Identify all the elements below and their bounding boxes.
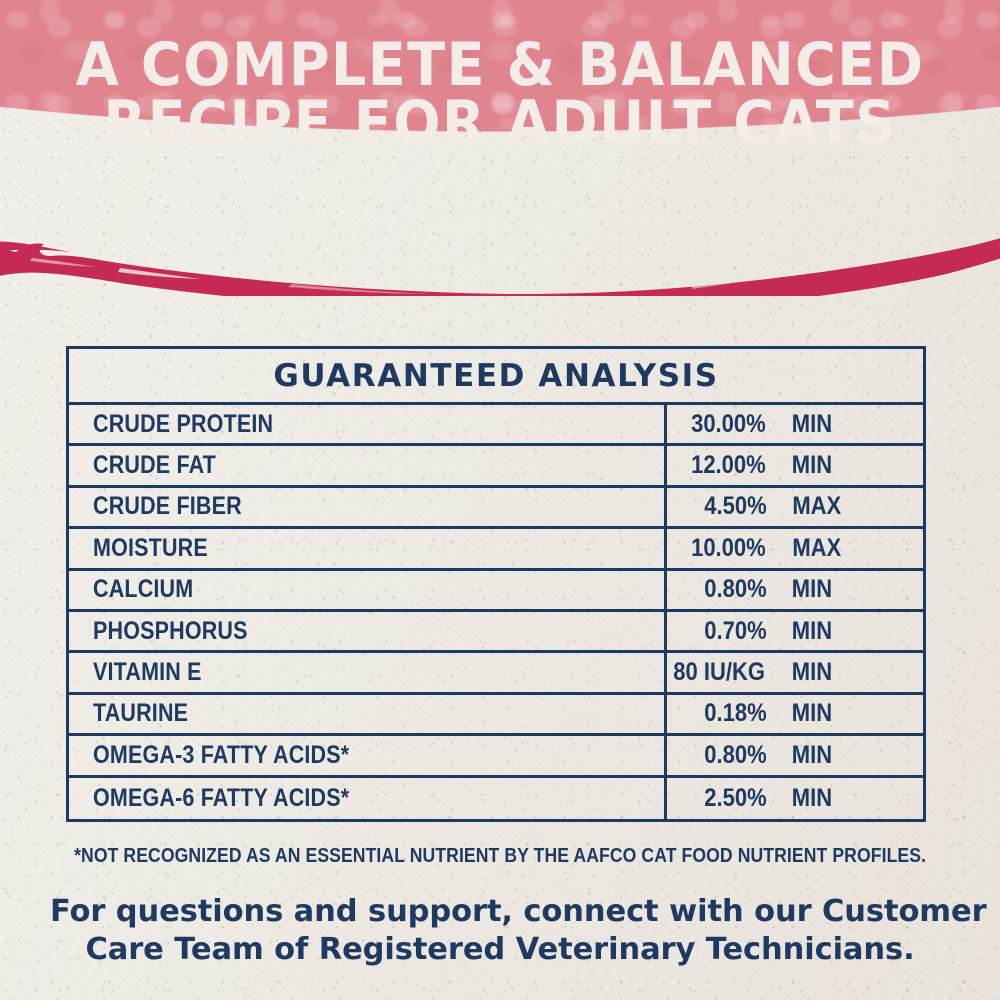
nutrient-name-cell: CRUDE FAT — [69, 446, 667, 484]
nutrient-amount-cell: 2.50% MIN — [667, 778, 923, 819]
table-row: CRUDE PROTEIN 30.00% MIN — [69, 405, 923, 446]
header-banner: A COMPLETE & BALANCED RECIPE FOR ADULT C… — [0, 0, 1000, 262]
nutrient-value: 0.80% — [667, 741, 777, 770]
nutrient-value: 10.00% — [667, 534, 777, 563]
nutrient-name-cell: TAURINE — [69, 695, 667, 733]
table-row: TAURINE 0.18% MIN — [69, 695, 923, 736]
nutrient-name-cell: CRUDE FIBER — [69, 488, 667, 526]
nutrient-qualifier: MIN — [777, 784, 835, 813]
table-title: GUARANTEED ANALYSIS — [69, 349, 923, 405]
nutrient-qualifier: MIN — [777, 658, 835, 687]
support-note-line-2: Care Team of Registered Veterinary Techn… — [50, 931, 950, 969]
nutrient-amount-cell: 12.00% MIN — [667, 446, 923, 484]
support-note-line-1: For questions and support, connect with … — [50, 893, 950, 931]
customer-support-note: For questions and support, connect with … — [50, 893, 950, 969]
nutrient-amount-cell: 10.00% MAX — [667, 529, 923, 567]
nutrient-value: 0.80% — [667, 575, 777, 604]
nutrient-value: 30.00% — [667, 410, 777, 439]
nutrient-amount-cell: 0.18% MIN — [667, 695, 923, 733]
table-row: VITAMIN E 80 IU/KG MIN — [69, 653, 923, 694]
table-row: PHOSPHORUS 0.70% MIN — [69, 612, 923, 653]
table-row: MOISTURE 10.00% MAX — [69, 529, 923, 570]
nutrient-name-cell: OMEGA-3 FATTY ACIDS* — [69, 736, 667, 774]
nutrient-name-cell: MOISTURE — [69, 529, 667, 567]
nutrient-qualifier: MAX — [777, 492, 845, 521]
nutrient-name-cell: OMEGA-6 FATTY ACIDS* — [69, 778, 667, 819]
nutrient-value: 80 IU/KG — [667, 658, 777, 687]
table-row: CRUDE FIBER 4.50% MAX — [69, 488, 923, 529]
aafco-footnote: *NOT RECOGNIZED AS AN ESSENTIAL NUTRIENT… — [0, 845, 1000, 868]
table-row: CRUDE FAT 12.00% MIN — [69, 446, 923, 487]
nutrient-amount-cell: 0.80% MIN — [667, 736, 923, 774]
nutrient-qualifier: MIN — [777, 575, 835, 604]
nutrient-value: 0.18% — [667, 699, 777, 728]
nutrient-value: 0.70% — [667, 617, 777, 646]
nutrient-qualifier: MIN — [777, 699, 835, 728]
nutrient-amount-cell: 80 IU/KG MIN — [667, 653, 923, 691]
table-row: OMEGA-3 FATTY ACIDS* 0.80% MIN — [69, 736, 923, 777]
table-row: CALCIUM 0.80% MIN — [69, 571, 923, 612]
guaranteed-analysis-table: GUARANTEED ANALYSIS CRUDE PROTEIN 30.00%… — [66, 346, 926, 822]
nutrient-name-cell: CRUDE PROTEIN — [69, 405, 667, 443]
headline-line-2: RECIPE FOR ADULT CATS — [35, 94, 965, 152]
table-row: OMEGA-6 FATTY ACIDS* 2.50% MIN — [69, 778, 923, 819]
banner-headline: A COMPLETE & BALANCED RECIPE FOR ADULT C… — [35, 36, 965, 152]
nutrient-value: 4.50% — [667, 492, 777, 521]
nutrient-qualifier: MIN — [777, 410, 835, 439]
nutrient-amount-cell: 0.70% MIN — [667, 612, 923, 650]
nutrient-value: 12.00% — [667, 451, 777, 480]
nutrient-amount-cell: 4.50% MAX — [667, 488, 923, 526]
nutrient-name-cell: PHOSPHORUS — [69, 612, 667, 650]
nutrient-qualifier: MAX — [777, 534, 845, 563]
product-info-panel: A COMPLETE & BALANCED RECIPE FOR ADULT C… — [0, 0, 1000, 1000]
nutrient-qualifier: MIN — [777, 451, 835, 480]
nutrient-amount-cell: 30.00% MIN — [667, 405, 923, 443]
nutrient-qualifier: MIN — [777, 741, 835, 770]
nutrient-amount-cell: 0.80% MIN — [667, 571, 923, 609]
nutrient-qualifier: MIN — [777, 617, 835, 646]
headline-line-1: A COMPLETE & BALANCED — [35, 36, 965, 94]
nutrient-name-cell: CALCIUM — [69, 571, 667, 609]
nutrient-name-cell: VITAMIN E — [69, 653, 667, 691]
nutrient-value: 2.50% — [667, 784, 777, 813]
